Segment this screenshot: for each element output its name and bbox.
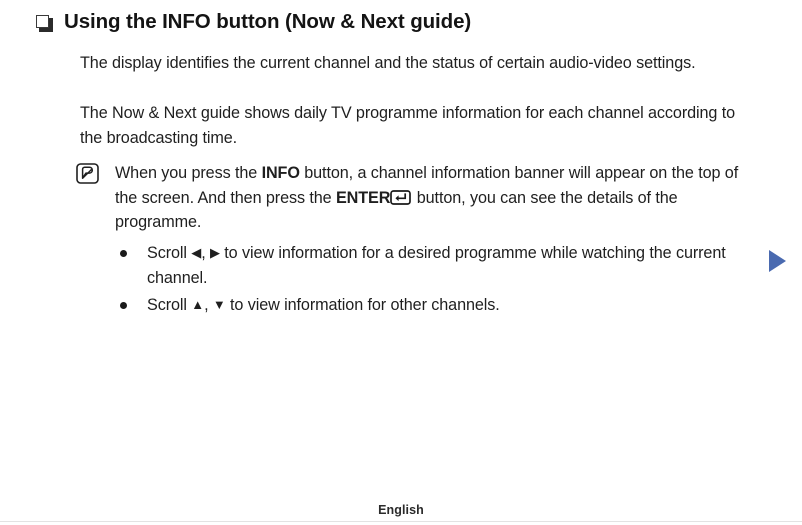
page-heading: Using the INFO button (Now & Next guide)	[36, 8, 762, 36]
footer-language: English	[0, 503, 802, 517]
next-page-triangle-icon[interactable]	[769, 250, 786, 272]
note-text: When you press the INFO button, a channe…	[115, 161, 760, 235]
square-bullet-icon	[36, 15, 51, 30]
bullet-2-segment-2: to view information for other channels.	[226, 296, 500, 314]
bullet-1-segment-2: to view information for a desired progra…	[147, 244, 726, 287]
bullet-1-separator: ,	[201, 244, 210, 262]
arrow-down-icon: ▼	[213, 298, 226, 311]
list-item-text: Scroll ▲, ▼ to view information for othe…	[147, 293, 765, 318]
list-item-text: Scroll ◀, ▶ to view information for a de…	[147, 241, 765, 290]
bullet-2-segment-1: Scroll	[147, 296, 191, 314]
bullet-1-segment-1: Scroll	[147, 244, 191, 262]
list-item: Scroll ▲, ▼ to view information for othe…	[120, 293, 765, 318]
enter-key-icon	[390, 188, 411, 203]
body-paragraph-1: The display identifies the current chann…	[80, 51, 752, 76]
round-bullet-icon	[120, 302, 127, 309]
note-pencil-icon	[76, 163, 99, 184]
manual-page: Using the INFO button (Now & Next guide)…	[0, 0, 802, 525]
arrow-left-icon: ◀	[191, 246, 201, 259]
round-bullet-icon	[120, 250, 127, 257]
bullet-list: Scroll ◀, ▶ to view information for a de…	[120, 241, 765, 321]
body-paragraph-2: The Now & Next guide shows daily TV prog…	[80, 101, 752, 151]
note-text-segment-1: When you press the	[115, 164, 262, 182]
note-emphasis-info: INFO	[262, 164, 300, 182]
note-block: When you press the INFO button, a channe…	[76, 161, 766, 235]
footer-divider	[0, 521, 802, 522]
page-title: Using the INFO button (Now & Next guide)	[64, 8, 471, 36]
arrow-right-icon: ▶	[210, 246, 220, 259]
note-emphasis-enter: ENTER	[336, 189, 390, 207]
list-item: Scroll ◀, ▶ to view information for a de…	[120, 241, 765, 290]
arrow-up-icon: ▲	[191, 298, 204, 311]
bullet-2-separator: ,	[204, 296, 213, 314]
